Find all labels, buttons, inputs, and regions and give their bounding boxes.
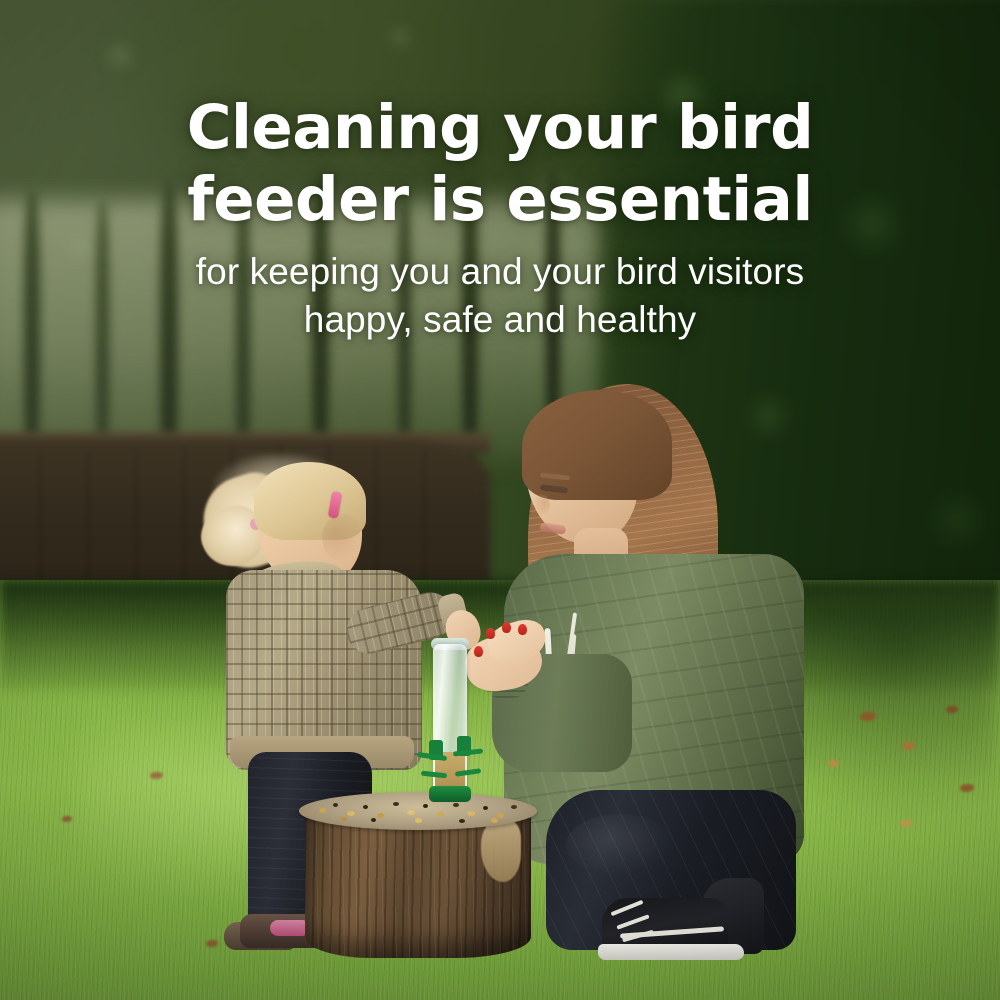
- seed: [377, 813, 384, 818]
- bird-feeder: [419, 644, 481, 806]
- seed: [363, 805, 368, 809]
- page-title: Cleaning your bird feeder is essential: [0, 92, 1000, 236]
- jeans-knee-highlight: [566, 814, 676, 876]
- subheadline-line-2: happy, safe and healthy: [0, 296, 1000, 344]
- scattered-bird-seed: [307, 794, 529, 828]
- feeder-base: [429, 786, 471, 802]
- headline-line-1: Cleaning your bird: [0, 92, 1000, 164]
- seed: [491, 818, 498, 823]
- seed: [459, 819, 465, 823]
- subtitle: for keeping you and your bird visitors h…: [0, 248, 1000, 344]
- child-face-shading: [322, 514, 364, 562]
- woman-nose: [532, 494, 550, 516]
- woman-hair-crown: [522, 390, 672, 500]
- subheadline-line-1: for keeping you and your bird visitors: [0, 248, 1000, 296]
- seed: [497, 813, 504, 818]
- seed: [437, 812, 444, 817]
- tree-stump-table: [297, 786, 539, 958]
- trainer-rubber-sole: [598, 944, 744, 960]
- seed: [341, 817, 347, 821]
- stump-bark-chip: [481, 820, 521, 882]
- seed: [483, 806, 488, 810]
- fingernail: [486, 628, 495, 639]
- fingernail: [502, 622, 511, 633]
- seed: [407, 810, 415, 815]
- fingernail: [518, 624, 527, 635]
- seed: [393, 802, 399, 806]
- text-overlay: Cleaning your bird feeder is essential f…: [0, 92, 1000, 344]
- seed: [511, 805, 517, 809]
- promo-image-canvas: Cleaning your bird feeder is essential f…: [0, 0, 1000, 1000]
- headline-line-2: feeder is essential: [0, 164, 1000, 236]
- seed: [333, 803, 338, 807]
- seed: [467, 811, 475, 816]
- seed: [371, 818, 376, 822]
- seed: [415, 818, 422, 823]
- seed: [319, 808, 326, 813]
- seed: [347, 811, 355, 816]
